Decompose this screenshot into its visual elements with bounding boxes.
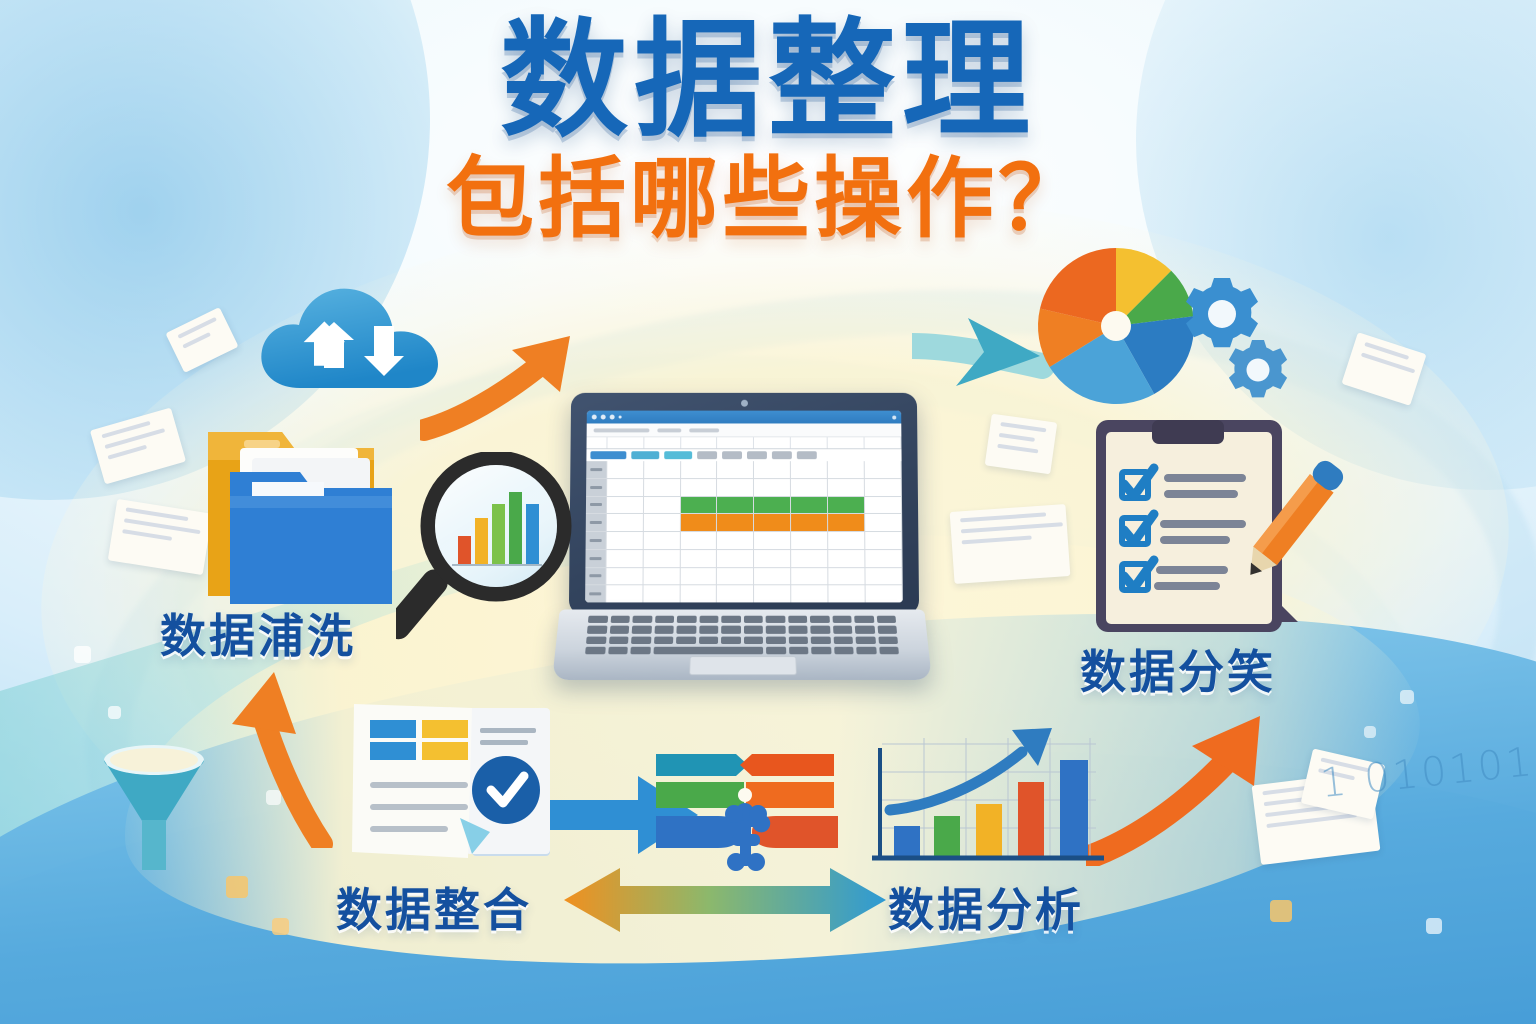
table-cell-highlight[interactable] <box>717 514 754 531</box>
page-subtitle: 包括哪些操作？ <box>0 151 1536 248</box>
clipboard-clip <box>1152 420 1224 444</box>
keyboard-row <box>586 636 898 644</box>
accent-square <box>226 876 248 898</box>
table-cell[interactable] <box>644 479 681 496</box>
table-cell[interactable] <box>643 586 680 603</box>
pie-chart <box>1038 248 1194 404</box>
keyboard-row <box>588 616 896 623</box>
funnel-icon <box>96 738 212 878</box>
keyboard-row <box>585 647 899 655</box>
tag-chip <box>722 451 742 459</box>
verified-badge <box>472 756 540 824</box>
merge-bar-orange <box>740 754 834 776</box>
spreadsheet-grid <box>585 461 903 602</box>
table-cell[interactable] <box>754 586 791 603</box>
col-head-corner <box>587 437 608 448</box>
table-cell[interactable] <box>606 550 643 567</box>
gear-large-icon <box>1186 278 1258 347</box>
label-data-analysis: 数据分析 <box>888 874 1084 940</box>
table-cell[interactable] <box>829 586 866 603</box>
table-cell[interactable] <box>717 586 754 603</box>
merge-bar-orange2 <box>746 782 834 808</box>
documents-with-check-badge <box>334 694 570 870</box>
col-head[interactable] <box>644 437 681 448</box>
laptop-device <box>556 392 928 692</box>
col-head[interactable] <box>681 437 718 448</box>
spreadsheet-titlebar <box>587 411 902 424</box>
laptop-screen <box>585 411 903 603</box>
folder-stack-icon <box>196 396 426 626</box>
col-head[interactable] <box>718 437 755 448</box>
paper-scrap <box>1341 332 1426 406</box>
table-row-highlighted-green <box>586 497 902 515</box>
bar-2 <box>934 816 960 856</box>
table-cell[interactable] <box>865 479 902 496</box>
tag-chip <box>664 451 692 459</box>
arrow-orange-to-classify <box>1086 706 1276 866</box>
table-cell[interactable] <box>829 568 866 585</box>
table-cell[interactable] <box>643 550 680 567</box>
table-row <box>585 550 902 568</box>
infographic-poster: 数据整理 包括哪些操作？ <box>0 0 1536 1024</box>
table-cell[interactable] <box>754 550 791 567</box>
table-cell[interactable] <box>606 586 643 603</box>
table-cell-highlight[interactable] <box>828 514 865 531</box>
data-merge-icon <box>652 752 842 874</box>
spreadsheet-toolbar[interactable] <box>587 423 902 437</box>
table-cell[interactable] <box>681 461 718 478</box>
table-cell[interactable] <box>717 568 754 585</box>
table-cell[interactable] <box>607 461 644 478</box>
table-cell-highlight[interactable] <box>717 497 754 514</box>
table-cell[interactable] <box>791 550 828 567</box>
table-cell[interactable] <box>865 514 902 531</box>
table-cell[interactable] <box>643 532 680 549</box>
block-blue <box>370 720 416 738</box>
pie-chart-with-gears <box>1026 236 1306 416</box>
table-cell[interactable] <box>865 532 902 549</box>
accent-square <box>1426 918 1442 934</box>
double-arrow-integrate-analyze <box>560 864 890 936</box>
table-cell[interactable] <box>865 497 902 514</box>
table-cell[interactable] <box>680 532 717 549</box>
table-cell[interactable] <box>754 532 791 549</box>
col-head[interactable] <box>607 437 644 448</box>
table-cell-highlight[interactable] <box>828 497 865 514</box>
binary-digits-decoration: 1 010101 <box>1318 739 1536 807</box>
table-cell-highlight[interactable] <box>680 514 717 531</box>
table-cell[interactable] <box>865 550 902 567</box>
table-row-highlighted-orange <box>586 514 903 532</box>
table-cell[interactable] <box>717 550 754 567</box>
paper-scrap <box>90 408 186 485</box>
label-data-cleaning: 数据浦洗 <box>160 600 356 666</box>
table-cell[interactable] <box>644 497 681 514</box>
bar-4 <box>1018 782 1044 856</box>
col-head[interactable] <box>828 437 865 448</box>
window-dot-icon <box>601 415 606 420</box>
window-dot-icon <box>592 415 597 420</box>
merge-bar-green <box>656 782 744 808</box>
table-cell[interactable] <box>681 479 718 496</box>
block-yellow <box>422 742 468 760</box>
table-cell[interactable] <box>643 514 680 531</box>
accent-square <box>1270 900 1292 922</box>
tag-chip <box>697 451 717 459</box>
table-cell[interactable] <box>643 568 680 585</box>
page-title: 数据整理 <box>0 14 1536 147</box>
trackpad[interactable] <box>689 656 797 675</box>
label-data-integration: 数据整合 <box>336 874 532 940</box>
clipboard-checklist <box>1080 412 1362 644</box>
table-cell[interactable] <box>791 568 828 585</box>
table-cell[interactable] <box>866 568 903 585</box>
table-row <box>585 586 903 603</box>
table-cell[interactable] <box>607 497 644 514</box>
window-dot-icon <box>610 415 615 420</box>
table-cell-highlight[interactable] <box>754 497 791 514</box>
headline-block: 数据整理 包括哪些操作？ <box>0 14 1536 248</box>
keyboard-row <box>587 626 897 634</box>
table-row <box>586 461 902 479</box>
table-cell[interactable] <box>828 550 865 567</box>
block-blue <box>370 742 416 760</box>
tag-chip <box>747 451 767 459</box>
table-cell[interactable] <box>606 568 643 585</box>
keyboard[interactable] <box>585 616 899 655</box>
table-row <box>586 532 903 550</box>
table-cell[interactable] <box>754 568 791 585</box>
table-cell[interactable] <box>828 479 865 496</box>
table-cell[interactable] <box>754 479 791 496</box>
paper-scrap <box>985 414 1058 475</box>
table-cell[interactable] <box>680 568 717 585</box>
magnifier-bar-chart-icon <box>396 452 596 672</box>
table-cell[interactable] <box>866 586 903 603</box>
table-cell[interactable] <box>606 532 643 549</box>
table-cell-highlight[interactable] <box>791 497 828 514</box>
table-cell[interactable] <box>680 586 717 603</box>
tag-chip <box>631 451 659 459</box>
webcam-icon <box>741 400 748 407</box>
table-cell-highlight[interactable] <box>681 497 718 514</box>
laptop-lid <box>569 393 919 615</box>
bar-5 <box>1060 760 1088 856</box>
table-cell[interactable] <box>792 586 829 603</box>
accent-square <box>74 646 91 663</box>
pie-center-hole <box>1101 311 1131 341</box>
bar-1 <box>894 826 920 856</box>
window-dot-icon <box>619 416 622 419</box>
table-cell[interactable] <box>644 461 681 478</box>
bar-3 <box>976 804 1002 856</box>
col-head[interactable] <box>754 437 791 448</box>
table-cell[interactable] <box>607 514 644 531</box>
spreadsheet-tag-row <box>586 449 901 461</box>
bar-chart-growth <box>862 722 1114 878</box>
table-row <box>586 479 902 497</box>
accent-square <box>1400 690 1414 704</box>
table-cell[interactable] <box>717 479 754 496</box>
table-cell[interactable] <box>865 461 902 478</box>
table-cell[interactable] <box>718 461 755 478</box>
tag-chip <box>797 451 817 459</box>
table-cell-highlight[interactable] <box>791 514 828 531</box>
table-cell-highlight[interactable] <box>754 514 791 531</box>
accent-square <box>108 706 121 719</box>
cloud-sync-icon <box>252 276 456 400</box>
label-data-classification: 数据分笑 <box>1080 636 1276 702</box>
table-cell[interactable] <box>828 461 865 478</box>
table-cell[interactable] <box>607 479 644 496</box>
accent-square <box>1364 726 1376 738</box>
laptop-base <box>552 609 932 679</box>
merge-bar-teal <box>656 754 748 776</box>
gear-small-icon <box>1229 340 1287 397</box>
accent-square <box>272 918 289 935</box>
col-head[interactable] <box>791 437 828 448</box>
table-cell[interactable] <box>828 532 865 549</box>
table-cell[interactable] <box>791 461 828 478</box>
col-head[interactable] <box>865 437 902 448</box>
paper-scrap <box>950 504 1071 584</box>
table-cell[interactable] <box>717 532 754 549</box>
spreadsheet-column-headers <box>586 437 901 449</box>
block-yellow <box>422 720 468 738</box>
paper-scrap <box>165 307 238 373</box>
table-cell[interactable] <box>680 550 717 567</box>
tag-chip <box>772 451 792 459</box>
table-row <box>585 568 903 586</box>
table-cell[interactable] <box>754 461 791 478</box>
table-cell[interactable] <box>791 532 828 549</box>
window-close-icon[interactable] <box>892 415 896 419</box>
table-cell[interactable] <box>791 479 828 496</box>
